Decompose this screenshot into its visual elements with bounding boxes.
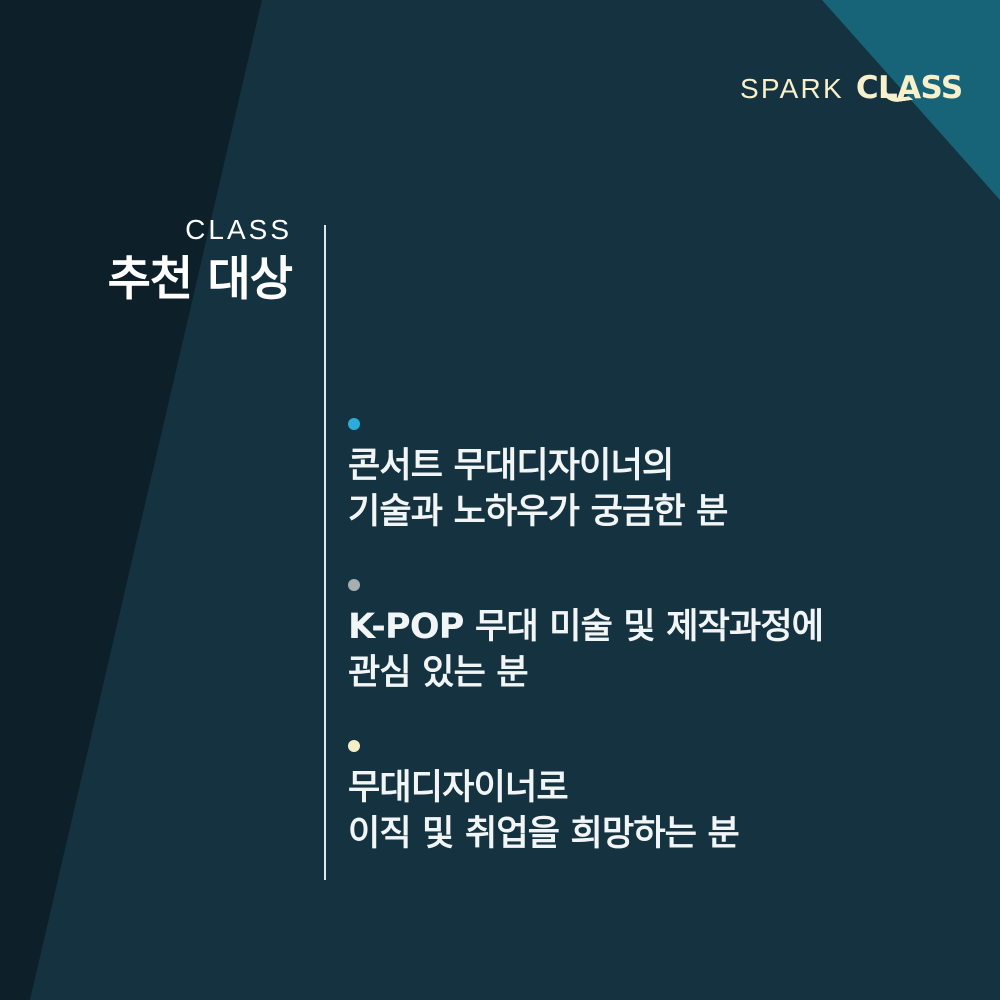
logo-word-class: CLASS <box>856 70 963 106</box>
bullet-dot-cream <box>348 740 360 752</box>
promo-card: SPARK CLASS CLASS 추천 대상 콘서트 무대디자이너의 기술과 … <box>0 0 1000 1000</box>
list-item-line-2: 관심 있는 분 <box>348 651 968 697</box>
list-item-line-1: K-POP 무대 미술 및 제작과정에 <box>348 605 968 651</box>
heading-eyebrow: CLASS <box>0 216 292 244</box>
list-item-line-1: 무대디자이너로 <box>348 766 968 812</box>
logo-word-spark: SPARK <box>740 73 844 105</box>
list-item: K-POP 무대 미술 및 제작과정에 관심 있는 분 <box>348 579 968 696</box>
heading-block: CLASS 추천 대상 <box>0 216 300 307</box>
bullet-dot-gray <box>348 579 360 591</box>
page-title: 추천 대상 <box>0 253 292 307</box>
bullet-list: 콘서트 무대디자이너의 기술과 노하우가 궁금한 분 K-POP 무대 미술 및… <box>348 418 968 857</box>
vertical-divider <box>324 225 326 880</box>
brand-logo: SPARK CLASS <box>740 70 963 106</box>
list-item-line-2: 기술과 노하우가 궁금한 분 <box>348 490 968 536</box>
list-item-line-1: 콘서트 무대디자이너의 <box>348 444 968 490</box>
list-item-line-2: 이직 및 취업을 희망하는 분 <box>348 812 968 858</box>
bullet-dot-cyan <box>348 418 360 430</box>
list-item: 무대디자이너로 이직 및 취업을 희망하는 분 <box>348 740 968 857</box>
list-item: 콘서트 무대디자이너의 기술과 노하우가 궁금한 분 <box>348 418 968 535</box>
